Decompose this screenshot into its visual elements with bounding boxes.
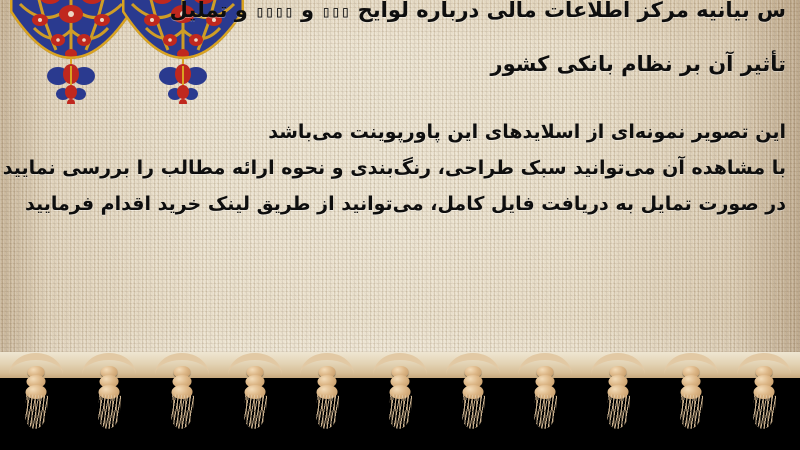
fringe-brush [679,394,703,429]
body-line-3: در صورت تمایل به دریافت فایل کامل، می‌تو… [25,193,786,215]
fringe-brush [388,394,412,429]
fringe-brush [170,394,194,429]
carpet-fringe [0,352,800,450]
title-missing-glyphs-a: ▯▯▯ [321,2,350,21]
fringe-brush [97,394,121,429]
title-missing-glyphs-b: ▯▯▯▯ [255,2,294,21]
title-line1-suffix: و تملیل [170,0,256,22]
fringe-brush [461,394,485,429]
slide-title-line-1: س بیانیه مرکز اطلاعات مالی درباره لوایح … [170,0,786,22]
fringe-brush [751,394,775,429]
title-line1-mid: و [294,0,322,22]
body-line-2: با مشاهده آن می‌توانید سبک طراحی، رنگ‌بن… [3,157,786,179]
body-line-1: این تصویر نمونه‌ای از اسلایدهای این پاور… [268,121,786,143]
fringe-brush [242,394,266,429]
fringe-brush [315,394,339,429]
fringe-brush [24,394,48,429]
slide-title-line-2: تأثیر آن بر نظام بانکی کشور [491,52,787,76]
title-line1-prefix: س بیانیه مرکز اطلاعات مالی درباره لوایح [350,0,786,22]
fringe-brush [533,394,557,429]
slide-text-layer: س بیانیه مرکز اطلاعات مالی درباره لوایح … [0,0,800,374]
slide-canvas: س بیانیه مرکز اطلاعات مالی درباره لوایح … [0,0,800,450]
fringe-brush [606,394,630,429]
